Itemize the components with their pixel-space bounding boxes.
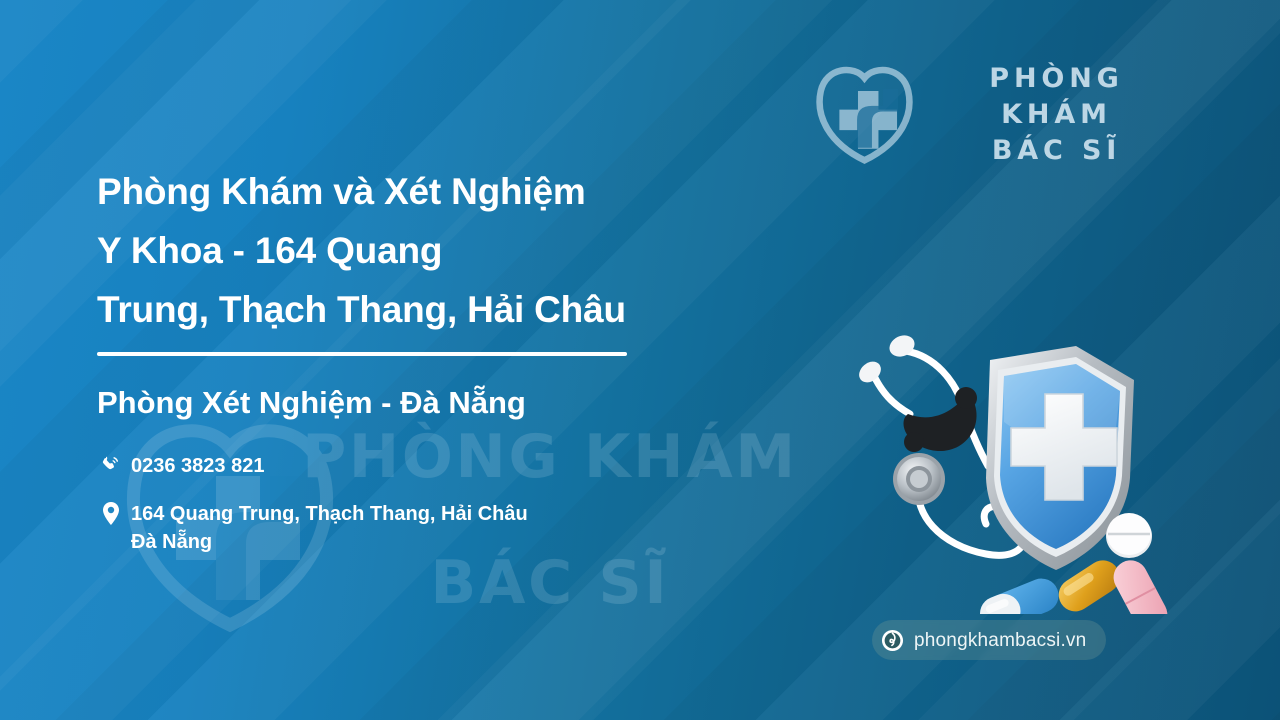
website-badge[interactable]: phongkhambacsi.vn: [872, 620, 1106, 660]
address-text: 164 Quang Trung, Thạch Thang, Hải Châu Đ…: [125, 500, 528, 556]
brand-line-1: PHÒNG KHÁM: [929, 61, 1184, 133]
brand-wordmark: PHÒNG KHÁM BÁC SĨ: [929, 61, 1184, 169]
medical-shield-stethoscope-pills-illustration: [838, 318, 1174, 614]
heart-medical-cross-logo-icon: [812, 65, 917, 165]
blue-capsule: [975, 573, 1064, 614]
contact-row-address[interactable]: 164 Quang Trung, Thạch Thang, Hải Châu Đ…: [97, 500, 737, 556]
address-line-1: 164 Quang Trung, Thạch Thang, Hải Châu: [131, 503, 528, 525]
phone-icon: [97, 452, 125, 475]
white-tablet: [1106, 513, 1152, 558]
map-pin-icon: [97, 500, 125, 525]
headline-line-3: Trung, Thạch Thang, Hải Châu: [97, 280, 797, 339]
headline-divider: [97, 352, 627, 356]
headline-line-1: Phòng Khám và Xét Nghiệm: [97, 162, 797, 221]
stethoscope-earpieces: [855, 331, 918, 386]
pink-capsule: [1108, 554, 1174, 614]
phone-number: 0236 3823 821: [125, 452, 264, 480]
website-url: phongkhambacsi.vn: [914, 629, 1086, 652]
clinic-banner: PHÒNG KHÁM BÁC SĨ Phòng Khám và Xét Nghi…: [0, 0, 1280, 720]
brand-line-2: BÁC SĨ: [929, 133, 1184, 169]
stethoscope-chestpiece: [893, 453, 945, 505]
address-line-2: Đà Nẵng: [131, 528, 528, 556]
subtitle: Phòng Xét Nghiệm - Đà Nẵng: [97, 382, 526, 424]
contact-block: 0236 3823 821 164 Quang Trung, Thạch Tha…: [97, 452, 737, 576]
headline-block: Phòng Khám và Xét Nghiệm Y Khoa - 164 Qu…: [97, 162, 797, 339]
contact-row-phone[interactable]: 0236 3823 821: [97, 452, 737, 480]
brand-logo: PHÒNG KHÁM BÁC SĨ: [812, 62, 1184, 167]
headline-line-2: Y Khoa - 164 Quang: [97, 221, 797, 280]
globe-icon: [881, 629, 904, 652]
